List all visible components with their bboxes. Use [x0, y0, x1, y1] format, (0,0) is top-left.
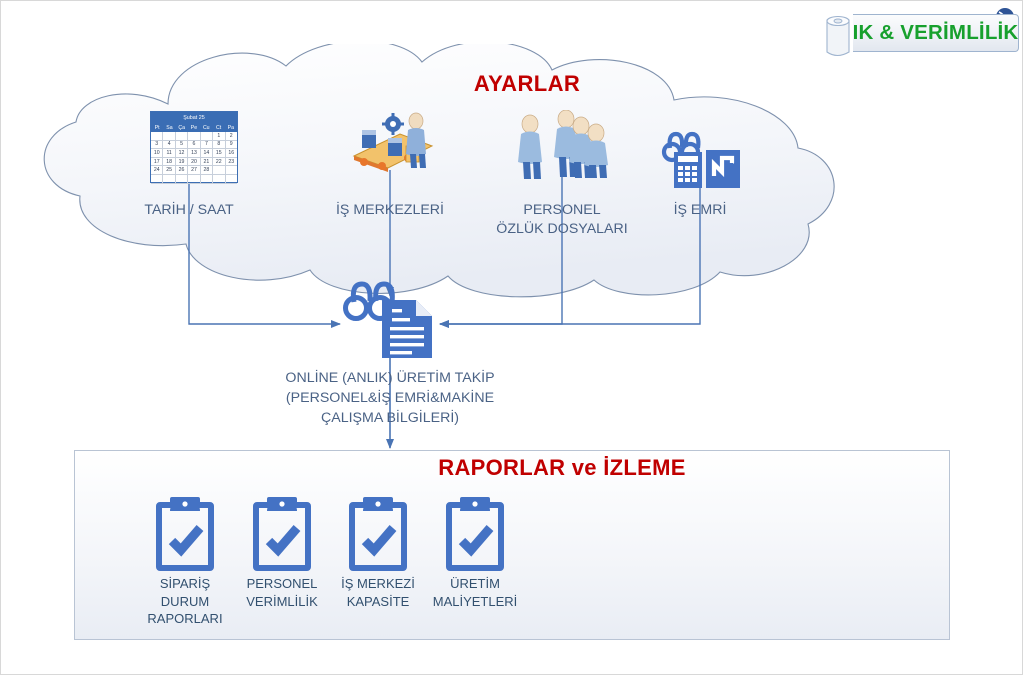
calendar-day-cell[interactable]: 12	[176, 149, 188, 158]
calendar-day-cell[interactable]: 17	[151, 158, 163, 167]
calendar-week-row: 12	[151, 132, 237, 141]
calendar-day-cell[interactable]: 22	[213, 158, 225, 167]
cloud-node-label-personel: PERSONEL ÖZLÜK DOSYALARI	[487, 201, 637, 238]
calendar-day-cell[interactable]	[201, 132, 213, 141]
calendar-week-row: 3456789	[151, 141, 237, 150]
calendar-day-cell[interactable]: 8	[213, 141, 225, 150]
clipboard-check-icon	[253, 497, 311, 571]
calendar-day-cell[interactable]	[201, 175, 213, 184]
calendar-week-row: 2425262728	[151, 166, 237, 175]
calendar-weekday: Sa	[163, 123, 175, 132]
calendar-day-cell[interactable]: 18	[163, 158, 175, 167]
reports-title: RAPORLAR ve İZLEME	[412, 455, 712, 481]
calendar-day-cell[interactable]: 4	[163, 141, 175, 150]
calendar-month-header: Şubat 25	[151, 112, 237, 123]
calendar-day-cell[interactable]: 16	[226, 149, 237, 158]
calendar-day-cell[interactable]	[176, 175, 188, 184]
calendar-day-cell[interactable]: 21	[201, 158, 213, 167]
clipboard-wrap	[415, 497, 535, 571]
calendar-day-cell[interactable]: 24	[151, 166, 163, 175]
calendar-day-cell[interactable]	[213, 166, 225, 175]
calendar-day-cell[interactable]: 11	[163, 149, 175, 158]
people-group-icon	[512, 110, 612, 180]
banner-title: IK & VERİMLİLİK	[853, 21, 1019, 45]
calendar-day-cell[interactable]: 23	[226, 158, 237, 167]
calendar-weekday: Pa	[225, 123, 237, 132]
calendar-day-cell[interactable]: 27	[188, 166, 200, 175]
calendar-day-cell[interactable]: 10	[151, 149, 163, 158]
cloud-node-label-is-emri: İŞ EMRİ	[645, 201, 755, 220]
cloud-node-label-tarih-saat: TARİH / SAAT	[119, 201, 259, 220]
report-item-label: ÜRETİM MALİYETLERİ	[415, 575, 535, 610]
calendar-week-row: 10111213141516	[151, 149, 237, 158]
calendar-day-cell[interactable]: 13	[188, 149, 200, 158]
calendar-day-cell[interactable]	[151, 132, 163, 141]
calendar-day-cell[interactable]: 5	[176, 141, 188, 150]
clipboard-check-icon	[156, 497, 214, 571]
calendar-day-cell[interactable]	[188, 132, 200, 141]
calendar-day-cell[interactable]: 9	[226, 141, 237, 150]
calendar-weekday: Ça	[176, 123, 188, 132]
calendar-day-cell[interactable]: 26	[176, 166, 188, 175]
cloud-node-label-is-merkezleri: İŞ MERKEZLERİ	[320, 201, 460, 220]
calendar-day-cell[interactable]	[188, 175, 200, 184]
calendar-day-cell[interactable]: 20	[188, 158, 200, 167]
calendar-weekday-row: Pt Sa Ça Pe Cu Ct Pa	[151, 123, 237, 132]
calendar-weekday: Pe	[188, 123, 200, 132]
cloud-title: AYARLAR	[402, 71, 652, 97]
calendar-body: 1234567891011121314151617181920212223242…	[151, 132, 237, 184]
clipboard-check-icon	[446, 497, 504, 571]
calendar-day-cell[interactable]: 25	[163, 166, 175, 175]
calendar-week-row: 17181920212223	[151, 158, 237, 167]
calendar-day-cell[interactable]: 7	[201, 141, 213, 150]
calendar-weekday: Ct	[212, 123, 224, 132]
calendar-day-cell[interactable]	[213, 175, 225, 184]
clipboard-check-icon	[349, 497, 407, 571]
calendar-weekday: Pt	[151, 123, 163, 132]
calendar-day-cell[interactable]: 15	[213, 149, 225, 158]
report-item-uretim-maliyetleri[interactable]: ÜRETİM MALİYETLERİ	[415, 497, 535, 610]
calendar-day-cell[interactable]: 2	[226, 132, 237, 141]
banner-plate: IK & VERİMLİLİK	[853, 14, 1019, 52]
binoculars-document-icon	[340, 278, 440, 360]
diagram-canvas: IK & VERİMLİLİK AYARLAR Şubat 25 Pt Sa Ç…	[0, 0, 1024, 676]
calendar-weekday: Cu	[200, 123, 212, 132]
calendar-icon: Şubat 25 Pt Sa Ça Pe Cu Ct Pa 1234567891…	[150, 111, 238, 183]
calendar-day-cell[interactable]: 19	[176, 158, 188, 167]
workcenter-machine-icon	[348, 112, 436, 172]
center-process-label: ONLİNE (ANLIK) ÜRETİM TAKİP (PERSONEL&İŞ…	[265, 368, 515, 428]
calendar-day-cell[interactable]	[226, 166, 237, 175]
calendar-day-cell[interactable]	[151, 175, 163, 184]
calendar-day-cell[interactable]: 28	[201, 166, 213, 175]
calendar-day-cell[interactable]	[176, 132, 188, 141]
calendar-day-cell[interactable]: 6	[188, 141, 200, 150]
calendar-day-cell[interactable]	[163, 132, 175, 141]
calendar-day-cell[interactable]	[226, 175, 237, 184]
calendar-day-cell[interactable]	[163, 175, 175, 184]
banner-ribbon: IK & VERİMLİLİK	[823, 8, 1021, 62]
calendar-day-cell[interactable]: 1	[213, 132, 225, 141]
calendar-day-cell[interactable]: 3	[151, 141, 163, 150]
calendar-day-cell[interactable]: 14	[201, 149, 213, 158]
binoculars-calculator-chart-icon	[660, 130, 748, 192]
calendar-week-row	[151, 175, 237, 184]
